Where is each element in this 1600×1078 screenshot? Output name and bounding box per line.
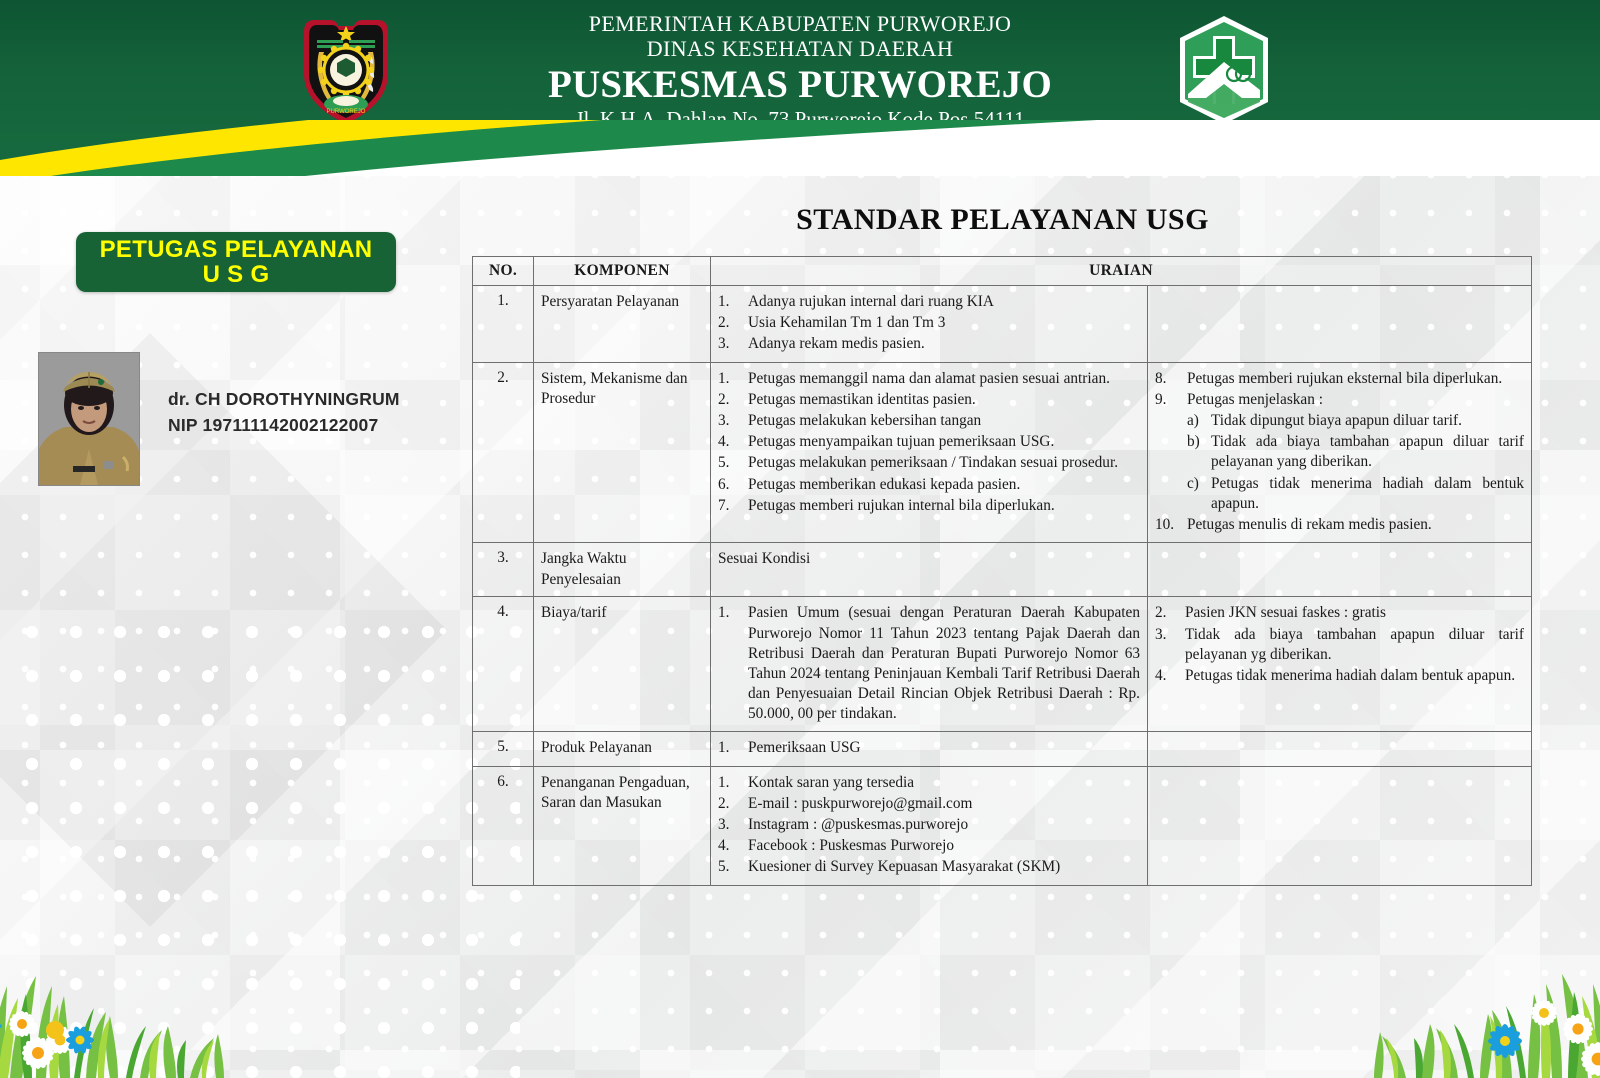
poster-page: PURWOREJO PEMERINTAH KABUPATEN PURWOREJO… xyxy=(0,0,1600,1078)
row-uraian-left: Sesuai Kondisi xyxy=(711,543,1148,597)
list-item: 2.Usia Kehamilan Tm 1 dan Tm 3 xyxy=(718,313,1140,333)
list-item: a) Tidak dipungut biaya apapun diluar ta… xyxy=(1187,411,1524,431)
row-komponen: Produk Pelayanan xyxy=(534,732,711,766)
table-row: 5. Produk Pelayanan 1.Pemeriksaan USG xyxy=(473,732,1532,766)
list-item: 8. Petugas memberi rujukan eksternal bil… xyxy=(1155,369,1524,389)
puskesmas-green-cross-icon xyxy=(1172,14,1276,126)
row-number: 1. xyxy=(473,286,534,363)
row-number: 4. xyxy=(473,597,534,732)
list-item: 1.Pemeriksaan USG xyxy=(718,738,1140,758)
column-header-uraian: URAIAN xyxy=(711,257,1532,286)
row-uraian-right xyxy=(1148,543,1532,597)
row-komponen: Penanganan Pengaduan, Saran dan Masukan xyxy=(534,766,711,885)
row-number: 2. xyxy=(473,362,534,543)
list-item: 1.Adanya rujukan internal dari ruang KIA xyxy=(718,292,1140,312)
row-komponen: Jangka Waktu Penyelesaian xyxy=(534,543,711,597)
row-number: 5. xyxy=(473,732,534,766)
row-uraian-right: 8. Petugas memberi rujukan eksternal bil… xyxy=(1148,362,1532,543)
list-item: 7.Petugas memberi rujukan internal bila … xyxy=(718,496,1140,516)
list-item: b) Tidak ada biaya tambahan apapun dilua… xyxy=(1187,432,1524,472)
list-item: 4. Petugas tidak menerima hadiah dalam b… xyxy=(1155,666,1524,686)
table-row: 1. Persyaratan Pelayanan 1.Adanya rujuka… xyxy=(473,286,1532,363)
list-item: 2. Pasien JKN sesuai faskes : gratis xyxy=(1155,603,1524,623)
svg-text:PURWOREJO: PURWOREJO xyxy=(327,109,366,115)
table-row: 6. Penanganan Pengaduan, Saran dan Masuk… xyxy=(473,766,1532,885)
header-line-5: email : puskpurworejo@gmail.com xyxy=(420,132,1180,154)
standar-pelayanan-table: NO. KOMPONEN URAIAN 1. Persyaratan Pelay… xyxy=(472,256,1532,886)
petugas-pelayanan-badge: PETUGAS PELAYANAN U S G xyxy=(76,232,396,292)
list-item: 2.Petugas memastikan identitas pasien. xyxy=(718,390,1140,410)
header-line-2: DINAS KESEHATAN DAERAH xyxy=(420,37,1180,60)
list-item: 10. Petugas menulis di rekam medis pasie… xyxy=(1155,515,1524,535)
list-item: 3. Tidak ada biaya tambahan apapun dilua… xyxy=(1155,625,1524,665)
badge-line-1: PETUGAS PELAYANAN xyxy=(100,237,373,262)
list-item: 3.Adanya rekam medis pasien. xyxy=(718,334,1140,354)
officer-photo xyxy=(38,352,140,486)
kabupaten-purworejo-crest-icon: PURWOREJO xyxy=(292,12,400,128)
list-item: 2.E-mail : puskpurworejo@gmail.com xyxy=(718,794,1140,814)
page-title: STANDAR PELAYANAN USG xyxy=(470,203,1535,237)
list-item: 1.Pasien Umum (sesuai dengan Peraturan D… xyxy=(718,603,1140,724)
header-text-block: PEMERINTAH KABUPATEN PURWOREJO DINAS KES… xyxy=(420,12,1180,154)
list-item: 1.Petugas memanggil nama dan alamat pasi… xyxy=(718,369,1140,389)
header-line-3: PUSKESMAS PURWOREJO xyxy=(420,64,1180,105)
row-number: 6. xyxy=(473,766,534,885)
list-item: 9. Petugas menjelaskan : a) Tidak dipung… xyxy=(1155,390,1524,514)
table-row: 3. Jangka Waktu Penyelesaian Sesuai Kond… xyxy=(473,543,1532,597)
row-uraian-left: 1.Pasien Umum (sesuai dengan Peraturan D… xyxy=(711,597,1148,732)
list-item: 4.Petugas menyampaikan tujuan pemeriksaa… xyxy=(718,432,1140,452)
row-uraian-left: 1.Kontak saran yang tersedia 2.E-mail : … xyxy=(711,766,1148,885)
row-uraian-right xyxy=(1148,766,1532,885)
list-item: 6.Petugas memberikan edukasi kepada pasi… xyxy=(718,475,1140,495)
officer-info: dr. CH DOROTHYNINGRUM NIP 19711114200212… xyxy=(168,386,448,439)
row-komponen: Biaya/tarif xyxy=(534,597,711,732)
list-item: 5.Kuesioner di Survey Kepuasan Masyaraka… xyxy=(718,857,1140,877)
column-header-komponen: KOMPONEN xyxy=(534,257,711,286)
list-item: 3.Instagram : @puskesmas.purworejo xyxy=(718,815,1140,835)
background-dot-pattern-large xyxy=(0,600,520,1078)
officer-name: dr. CH DOROTHYNINGRUM xyxy=(168,386,448,412)
table-row: 4. Biaya/tarif 1.Pasien Umum (sesuai den… xyxy=(473,597,1532,732)
list-item: c) Petugas tidak menerima hadiah dalam b… xyxy=(1187,474,1524,514)
list-item: 3.Petugas melakukan kebersihan tangan xyxy=(718,411,1140,431)
row-number: 3. xyxy=(473,543,534,597)
table-row: 2. Sistem, Mekanisme dan Prosedur 1.Petu… xyxy=(473,362,1532,543)
row-uraian-left: 1.Adanya rujukan internal dari ruang KIA… xyxy=(711,286,1148,363)
header-line-1: PEMERINTAH KABUPATEN PURWOREJO xyxy=(420,12,1180,35)
row-komponen: Persyaratan Pelayanan xyxy=(534,286,711,363)
row-uraian-left: 1.Pemeriksaan USG xyxy=(711,732,1148,766)
column-header-no: NO. xyxy=(473,257,534,286)
header-banner: PURWOREJO PEMERINTAH KABUPATEN PURWOREJO… xyxy=(0,0,1600,176)
header-line-4: Jl. K.H.A. Dahlan No. 73 Purworejo Kode … xyxy=(420,108,1180,130)
table-header-row: NO. KOMPONEN URAIAN xyxy=(473,257,1532,286)
row-uraian-right xyxy=(1148,732,1532,766)
officer-nip: NIP 197111142002122007 xyxy=(168,412,448,438)
row-uraian-right xyxy=(1148,286,1532,363)
list-item: 1.Kontak saran yang tersedia xyxy=(718,773,1140,793)
row-uraian-right: 2. Pasien JKN sesuai faskes : gratis 3. … xyxy=(1148,597,1532,732)
row-uraian-left: 1.Petugas memanggil nama dan alamat pasi… xyxy=(711,362,1148,543)
row-komponen: Sistem, Mekanisme dan Prosedur xyxy=(534,362,711,543)
list-item: 5.Petugas melakukan pemeriksaan / Tindak… xyxy=(718,453,1140,473)
badge-line-2: U S G xyxy=(203,262,270,287)
list-item: 4.Facebook : Puskesmas Purworejo xyxy=(718,836,1140,856)
